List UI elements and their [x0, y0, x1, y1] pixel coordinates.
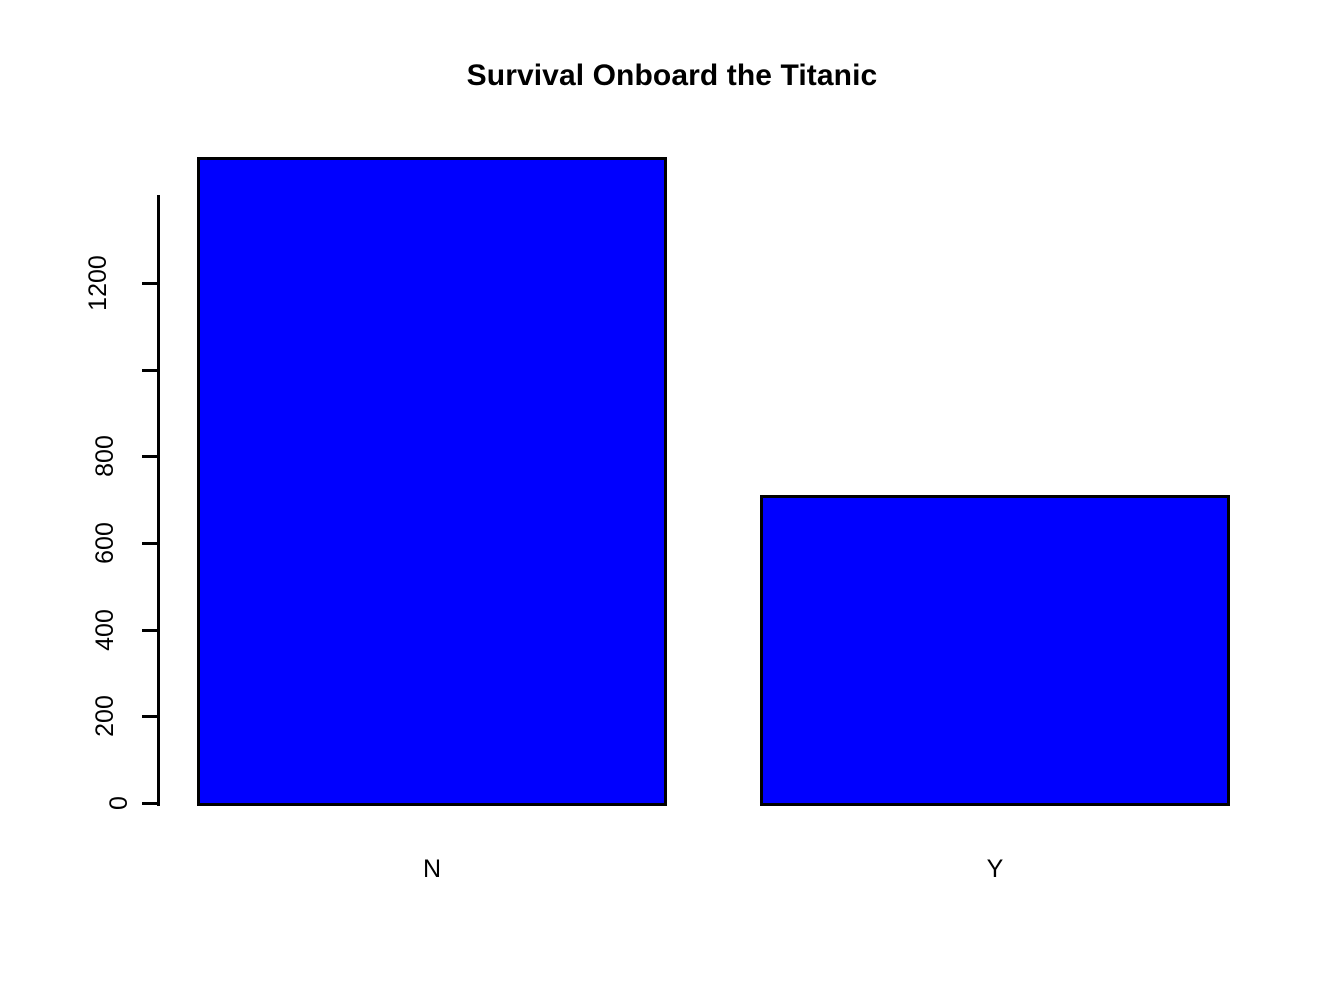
y-axis-tick — [142, 455, 157, 458]
y-axis-tick-label: 200 — [0, 701, 126, 731]
y-axis-tick — [142, 629, 157, 632]
y-axis-tick — [142, 715, 157, 718]
y-axis-tick-label: 0 — [0, 788, 126, 818]
y-axis-tick-label-text: 1200 — [83, 255, 113, 311]
bar[interactable] — [197, 157, 667, 806]
plot-area: 02004006008001200 NY — [0, 0, 1344, 1008]
y-axis-tick-label-text: 800 — [90, 435, 120, 477]
y-axis-tick-label-text: 400 — [90, 609, 120, 651]
y-axis-tick-label-text: 0 — [104, 796, 134, 810]
bar[interactable] — [760, 495, 1230, 806]
chart-canvas: Survival Onboard the Titanic 02004006008… — [0, 0, 1344, 1008]
x-axis-category-label: N — [197, 855, 667, 883]
x-axis-category-label: Y — [760, 855, 1230, 883]
y-axis-tick — [142, 542, 157, 545]
y-axis-tick-label: 400 — [0, 615, 126, 645]
y-axis-tick-label: 600 — [0, 528, 126, 558]
y-axis-tick-label-text: 200 — [90, 695, 120, 737]
y-axis-tick-label: 800 — [0, 441, 126, 471]
y-axis-tick-label: 1200 — [0, 268, 126, 298]
y-axis-tick-label-text: 600 — [90, 522, 120, 564]
y-axis-tick — [142, 369, 157, 372]
y-axis-tick — [142, 802, 157, 805]
y-axis-tick — [142, 282, 157, 285]
y-axis-line — [157, 195, 160, 806]
